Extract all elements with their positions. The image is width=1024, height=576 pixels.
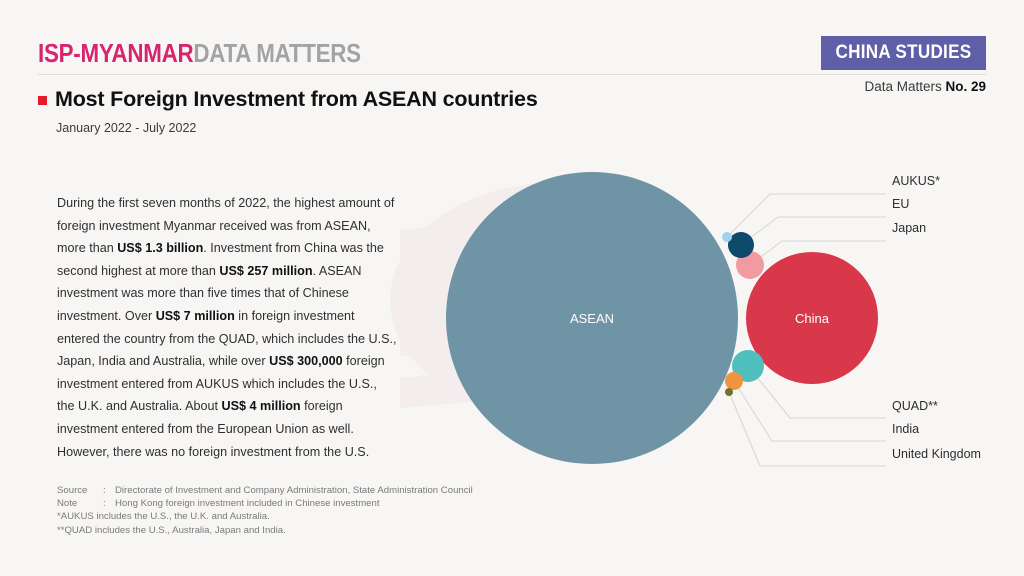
bubble-eu (728, 232, 754, 258)
body-highlight-5: US$ 4 million (222, 399, 301, 413)
body-highlight-2: US$ 257 million (219, 264, 312, 278)
leader-line-aukus (727, 194, 886, 237)
footnote-quad: **QUAD includes the U.S., Australia, Jap… (57, 524, 473, 537)
footnote-source-value: Directorate of Investment and Company Ad… (115, 484, 473, 497)
bubble-aukus (722, 232, 732, 242)
body-highlight-4: US$ 300,000 (269, 354, 343, 368)
leader-line-india (734, 381, 886, 441)
callout-label-united-kingdom: United Kingdom (892, 447, 981, 461)
footnote-source-colon: : (103, 484, 115, 497)
callout-label-india: India (892, 422, 919, 436)
leader-line-united-kingdom (729, 392, 886, 466)
infographic-page: ISP-MYANMARDATA MATTERS CHINA STUDIES Da… (0, 0, 1024, 576)
callout-label-japan: Japan (892, 221, 926, 235)
callout-label-eu: EU (892, 197, 909, 211)
callout-label-quad: QUAD** (892, 399, 938, 413)
footnote-note-value: Hong Kong foreign investment included in… (115, 497, 380, 510)
footnote-note-colon: : (103, 497, 115, 510)
footnote-note-key: Note (57, 497, 103, 510)
footnote-source: Source : Directorate of Investment and C… (57, 484, 473, 497)
bubble-india (725, 372, 743, 390)
body-highlight-1: US$ 1.3 billion (117, 241, 203, 255)
bubble-label-asean: ASEAN (570, 311, 614, 326)
body-highlight-3: US$ 7 million (156, 309, 235, 323)
footnote-aukus: *AUKUS includes the U.S., the U.K. and A… (57, 510, 473, 523)
footnote-note: Note : Hong Kong foreign investment incl… (57, 497, 473, 510)
bubble-united-kingdom (725, 388, 733, 396)
footnote-source-key: Source (57, 484, 103, 497)
body-paragraph: During the first seven months of 2022, t… (57, 192, 397, 463)
bubble-label-china: China (795, 311, 830, 326)
footnotes: Source : Directorate of Investment and C… (57, 484, 473, 537)
callout-label-aukus: AUKUS* (892, 174, 940, 188)
